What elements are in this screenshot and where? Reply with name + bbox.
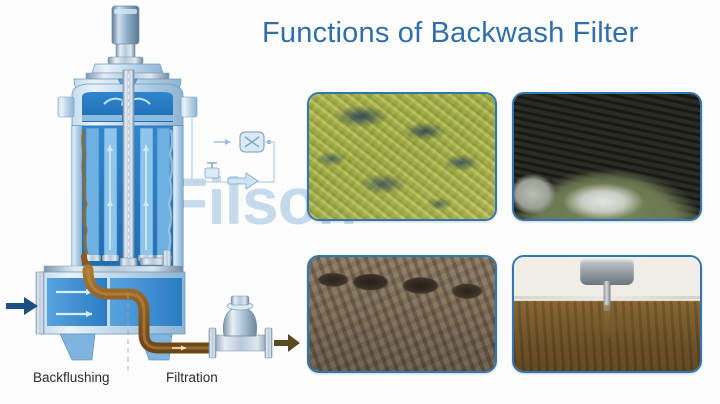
photo-algae-bloom bbox=[307, 92, 497, 221]
photo-algae-bloom-image bbox=[309, 94, 495, 219]
outlet-arrow[interactable] bbox=[274, 334, 300, 352]
page-title: Functions of Backwash Filter bbox=[262, 17, 638, 50]
drive-motor bbox=[108, 6, 143, 64]
photo-mud-sludge-image bbox=[309, 257, 495, 371]
inlet-chamber bbox=[36, 266, 185, 334]
photo-stone-well bbox=[512, 92, 702, 221]
backwash-filter-diagram bbox=[0, 0, 300, 404]
outlet-valve[interactable] bbox=[209, 296, 272, 358]
control-unit[interactable] bbox=[192, 118, 274, 182]
photo-mud-sludge bbox=[307, 255, 497, 373]
flush-valve[interactable] bbox=[205, 163, 219, 178]
caption-filtration: Filtration bbox=[166, 370, 218, 385]
photo-rusty-tap-water bbox=[512, 255, 702, 373]
inlet-arrow[interactable] bbox=[6, 297, 38, 315]
caption-backflushing: Backflushing bbox=[33, 370, 110, 385]
slide-canvas: Filson Functions of Backwash Filter bbox=[0, 0, 720, 404]
secondary-flow-arrow bbox=[228, 173, 258, 189]
photo-rusty-tap-water-image bbox=[514, 257, 700, 371]
faucet-icon bbox=[580, 259, 634, 285]
photo-stone-well-image bbox=[514, 94, 700, 219]
water-stream bbox=[604, 305, 610, 339]
